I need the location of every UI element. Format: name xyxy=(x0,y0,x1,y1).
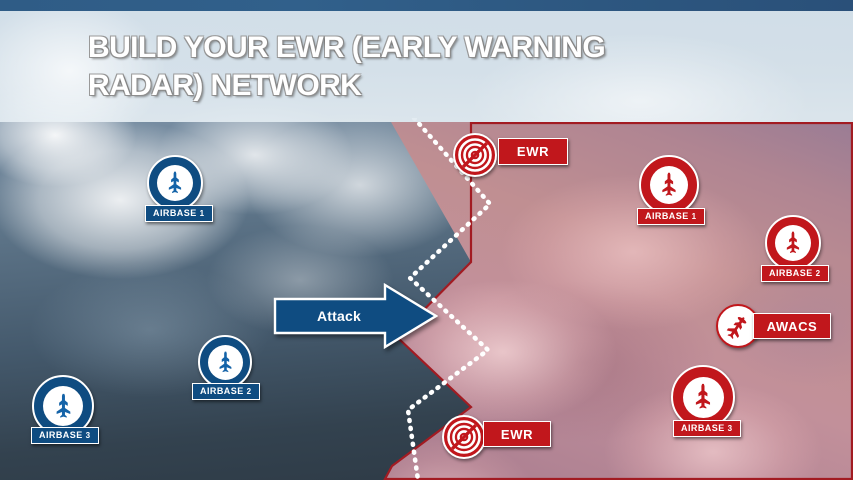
ewr-north-marker[interactable]: EWR xyxy=(453,133,497,177)
blue-airbase-1-label: AIRBASE 1 xyxy=(145,205,213,222)
blue-airbase-3-label: AIRBASE 3 xyxy=(31,427,99,444)
blue-airbase-1-node[interactable] xyxy=(147,155,203,211)
fighter-jet-icon xyxy=(683,377,724,418)
blue-airbase-3-marker[interactable]: AIRBASE 3 xyxy=(32,375,94,437)
label-number: 2 xyxy=(816,269,821,278)
fighter-jet-icon xyxy=(650,166,688,204)
label-text: AIRBASE xyxy=(39,430,83,440)
label-number: 3 xyxy=(86,431,91,440)
ewr-south-label: EWR xyxy=(483,421,551,447)
fighter-jet-icon xyxy=(775,225,811,261)
label-text: AIRBASE xyxy=(769,268,813,278)
label-text: AIRBASE xyxy=(645,211,689,221)
blue-airbase-2-node[interactable] xyxy=(198,335,252,389)
awacs-label: AWACS xyxy=(753,313,831,339)
blue-airbase-2-marker[interactable]: AIRBASE 2 xyxy=(198,335,252,389)
ewr-south-marker[interactable]: EWR xyxy=(442,415,486,459)
fighter-jet-icon xyxy=(157,165,193,201)
red-airbase-3-marker[interactable]: AIRBASE 3 xyxy=(671,365,735,429)
top-accent-bar xyxy=(0,0,853,11)
blue-airbase-1-marker[interactable]: AIRBASE 1 xyxy=(147,155,203,211)
label-number: 1 xyxy=(200,209,205,218)
slide-canvas: BUILD YOUR EWR (EARLY WARNING RADAR) NET… xyxy=(0,0,853,480)
label-number: 2 xyxy=(247,387,252,396)
red-airbase-2-node[interactable] xyxy=(765,215,821,271)
attack-arrow-icon xyxy=(273,283,438,349)
fighter-jet-icon xyxy=(43,386,83,426)
blue-airbase-2-label: AIRBASE 2 xyxy=(192,383,260,400)
red-airbase-2-label: AIRBASE 2 xyxy=(761,265,829,282)
label-number: 3 xyxy=(728,424,733,433)
label-text: AIRBASE xyxy=(153,208,197,218)
label-text: AIRBASE xyxy=(200,386,244,396)
label-number: 1 xyxy=(692,212,697,221)
radar-target-icon[interactable] xyxy=(453,133,497,177)
page-title: BUILD YOUR EWR (EARLY WARNING RADAR) NET… xyxy=(88,29,728,106)
awacs-marker[interactable]: AWACS xyxy=(716,304,760,348)
red-airbase-2-marker[interactable]: AIRBASE 2 xyxy=(765,215,821,271)
red-airbase-1-node[interactable] xyxy=(639,155,699,215)
radar-target-icon[interactable] xyxy=(442,415,486,459)
fighter-jet-icon xyxy=(208,345,243,380)
red-airbase-1-marker[interactable]: AIRBASE 1 xyxy=(639,155,699,215)
ewr-north-label: EWR xyxy=(498,138,568,165)
red-airbase-3-label: AIRBASE 3 xyxy=(673,420,741,437)
red-airbase-1-label: AIRBASE 1 xyxy=(637,208,705,225)
label-text: AIRBASE xyxy=(681,423,725,433)
